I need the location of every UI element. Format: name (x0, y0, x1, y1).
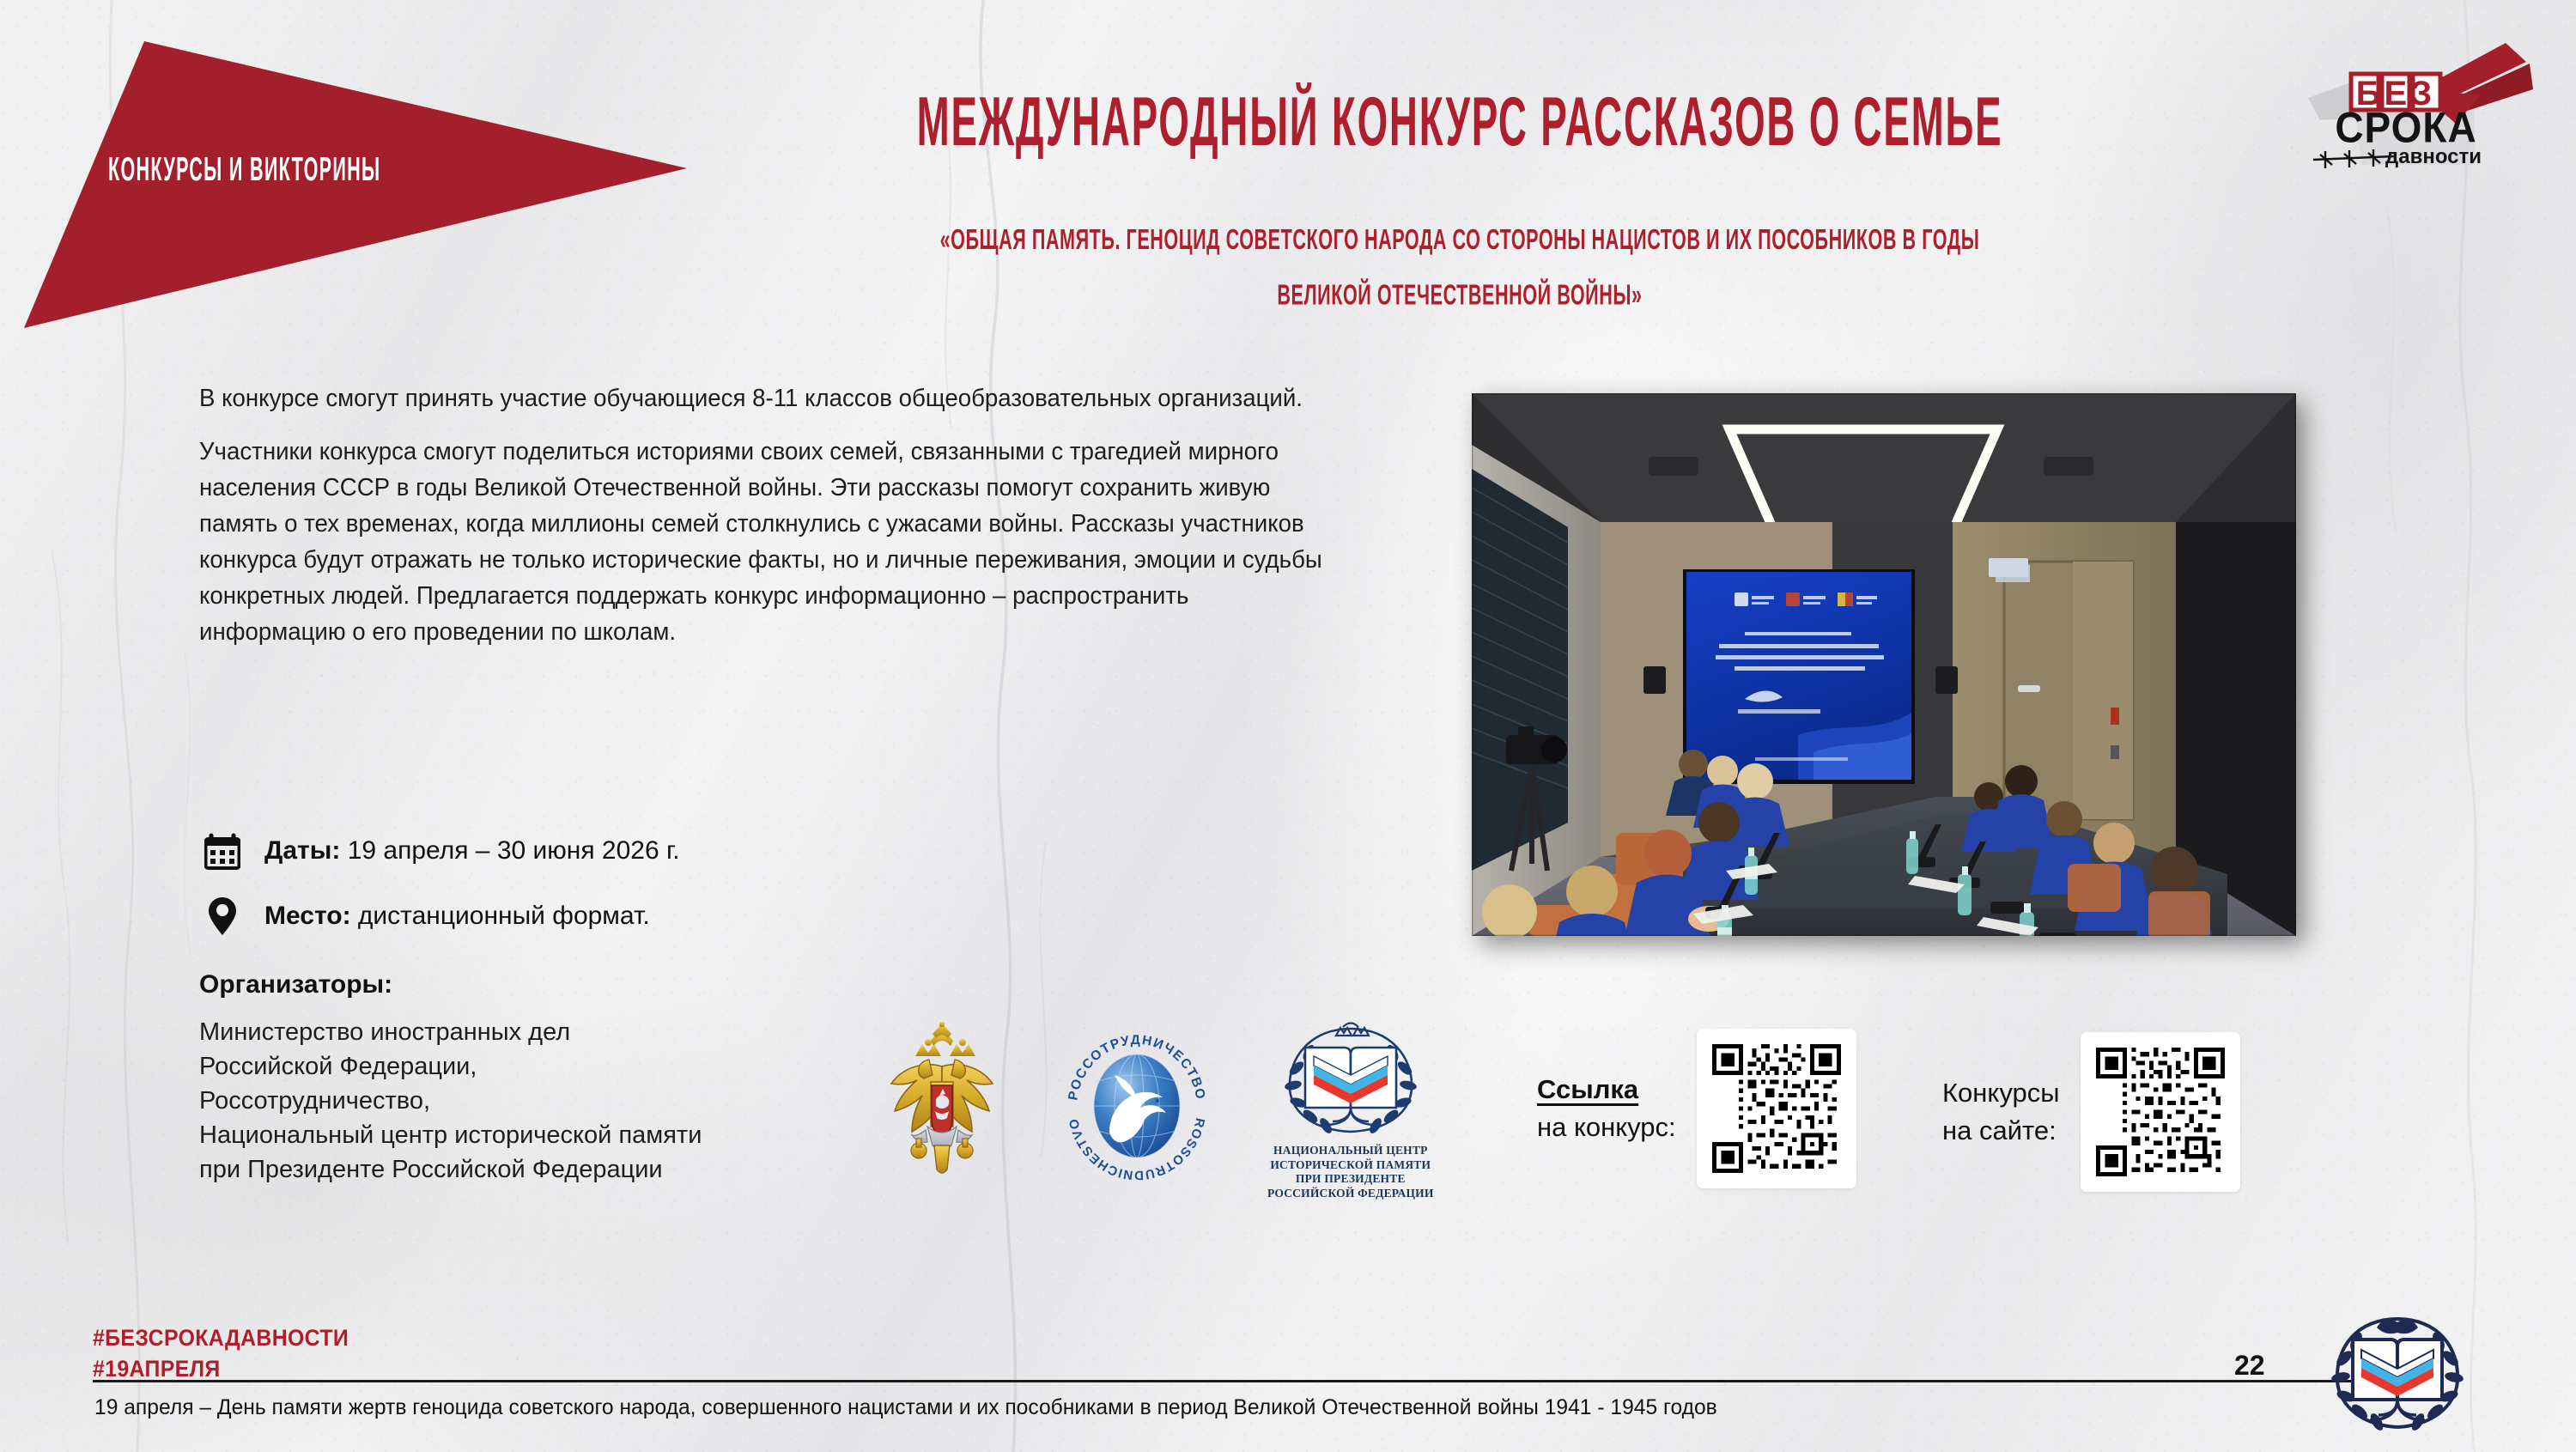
qr-block-site[interactable]: Конкурсы на сайте: (1942, 1032, 2240, 1192)
nchm-caption-line-4: РОССИЙСКОЙ ФЕДЕРАЦИИ (1267, 1187, 1434, 1201)
page-subtitle-line-1: «ОБЩАЯ ПАМЯТЬ. ГЕНОЦИД СОВЕТСКОГО НАРОДА… (733, 213, 2186, 268)
footer-divider (93, 1380, 2394, 1382)
dates-label: Даты: (264, 836, 340, 865)
nchm-caption-line-1: НАЦИОНАЛЬНЫЙ ЦЕНТР (1267, 1144, 1434, 1158)
meta-row-place: Место: дистанционный формат. (203, 890, 1061, 943)
hashtag-1: #БЕЗСРОКАДАВНОСТИ (93, 1322, 349, 1353)
coat-of-arms-russia-logo (878, 1022, 1006, 1180)
nchm-caption: НАЦИОНАЛЬНЫЙ ЦЕНТР ИСТОРИЧЕСКОЙ ПАМЯТИ П… (1267, 1144, 1434, 1200)
hashtags: #БЕЗСРОКАДАВНОСТИ #19АПРЕЛЯ (93, 1322, 371, 1384)
qr-link-label-rest: на конкурс: (1537, 1109, 1676, 1146)
nchm-caption-line-3: ПРИ ПРЕЗИДЕНТЕ (1267, 1172, 1434, 1187)
place-label: Место: (264, 902, 351, 930)
nchm-caption-line-2: ИСТОРИЧЕСКОЙ ПАМЯТИ (1267, 1158, 1434, 1173)
footer-note: 19 апреля – День памяти жертв геноцида с… (94, 1393, 2370, 1422)
rossotrudnichestvo-logo: РОССОТРУДНИЧЕСТВО ROSSOTRUDNICHESTVO (1061, 1022, 1212, 1183)
page-number: 22 (2234, 1350, 2265, 1382)
marble-vein-right (2336, 0, 2576, 1452)
place-value: дистанционный формат. (358, 902, 650, 930)
organizers-title: Организаторы: (199, 970, 1101, 999)
qr-link-label: Ссылка на конкурс: (1537, 1071, 1676, 1146)
body-copy: В конкурсе смогут принять участие обучаю… (199, 380, 1340, 650)
slide-canvas: КОНКУРСЫ И ВИКТОРИНЫ МЕЖДУНАРОДНЫЙ КОНКУ… (0, 0, 2576, 1452)
dates-value: 19 апреля – 30 июня 2026 г. (348, 836, 680, 865)
qr-site-label-line-1: Конкурсы (1942, 1074, 2060, 1112)
body-paragraph-2: Участники конкурса смогут поделиться ист… (199, 434, 1340, 650)
qr-code-link[interactable] (1697, 1029, 1856, 1188)
dates-text: Даты: 19 апреля – 30 июня 2026 г. (264, 836, 680, 866)
bez-sroka-davnosti-logo: БЕЗ СРОКА давности (2275, 19, 2550, 173)
page-subtitle: «ОБЩАЯ ПАМЯТЬ. ГЕНОЦИД СОВЕТСКОГО НАРОДА… (733, 213, 2186, 324)
section-tag-label: КОНКУРСЫ И ВИКТОРИНЫ (108, 150, 380, 189)
meta-row-dates: Даты: 19 апреля – 30 июня 2026 г. (203, 824, 1061, 878)
bsd-line3-text: давности (2385, 145, 2482, 168)
calendar-icon (203, 832, 242, 870)
qr-code-site[interactable] (2081, 1032, 2240, 1192)
qr-link-label-strong: Ссылка (1537, 1074, 1638, 1104)
location-pin-icon (203, 896, 242, 936)
education-ministry-logo (2324, 1309, 2471, 1439)
partner-logos: РОССОТРУДНИЧЕСТВО ROSSOTRUDNICHESTVO (878, 1022, 1434, 1200)
qr-site-label: Конкурсы на сайте: (1942, 1074, 2060, 1150)
conference-room-photo (1472, 393, 2296, 936)
qr-site-label-rest: на сайте: (1942, 1112, 2060, 1150)
qr-block-link[interactable]: Ссылка на конкурс: (1537, 1029, 1856, 1188)
place-text: Место: дистанционный формат. (264, 902, 650, 931)
body-paragraph-1: В конкурсе смогут принять участие обучаю… (199, 380, 1340, 416)
page-title: МЕЖДУНАРОДНЫЙ КОНКУРС РАССКАЗОВ О СЕМЬЕ (780, 82, 2140, 162)
event-meta: Даты: 19 апреля – 30 июня 2026 г. Место:… (203, 824, 1061, 943)
nchm-logo: НАЦИОНАЛЬНЫЙ ЦЕНТР ИСТОРИЧЕСКОЙ ПАМЯТИ П… (1267, 1022, 1434, 1200)
page-subtitle-line-2: ВЕЛИКОЙ ОТЕЧЕСТВЕННОЙ ВОЙНЫ» (733, 268, 2186, 323)
